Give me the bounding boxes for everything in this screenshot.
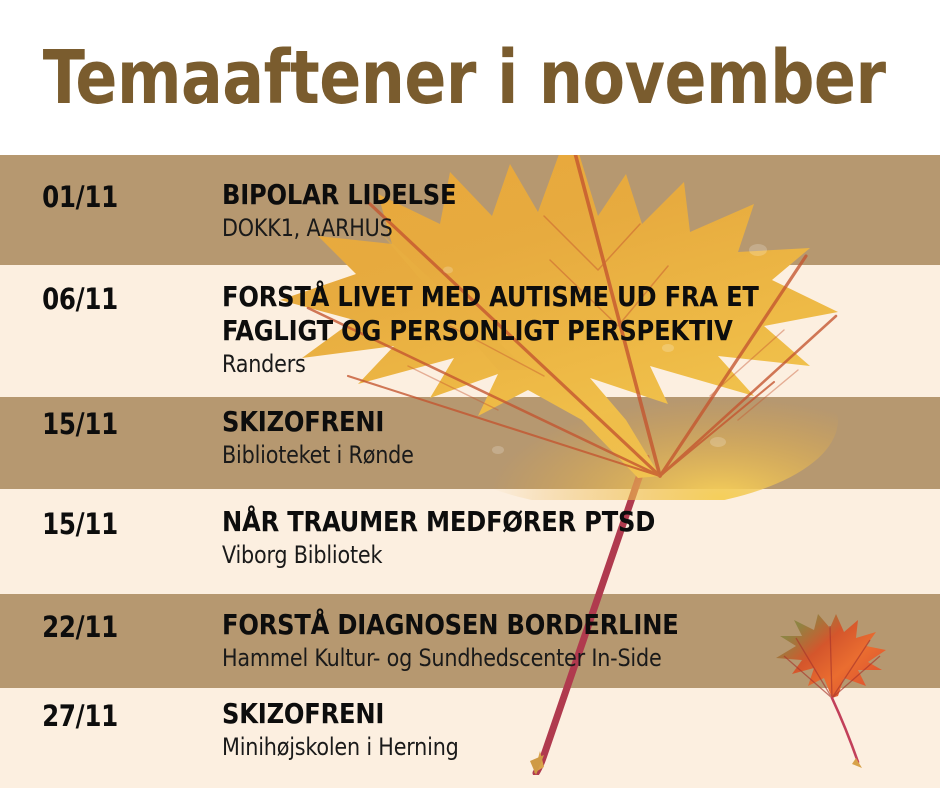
event-venue: Biblioteket i Rønde [222,440,911,470]
event-date: 27/11 [5,697,155,733]
event-date: 15/11 [5,505,155,541]
event-venue: DOKK1, AARHUS [222,213,911,243]
event-date: 01/11 [5,178,155,214]
event-venue: Viborg Bibliotek [222,540,911,570]
table-row[interactable]: 01/11BIPOLAR LIDELSEDOKK1, AARHUS [0,178,940,243]
table-row[interactable]: 15/11NÅR TRAUMER MEDFØRER PTSDViborg Bib… [0,505,940,570]
page-title: Temaaftener i november [0,38,886,118]
poster-header: Temaaftener i november [0,0,940,155]
event-date: 15/11 [5,405,155,441]
event-info: SKIZOFRENIBiblioteket i Rønde [160,405,940,470]
event-info: FORSTÅ LIVET MED AUTISME UD FRA ET FAGLI… [160,280,940,379]
event-info: SKIZOFRENIMinihøjskolen i Herning [160,697,940,762]
event-title: NÅR TRAUMER MEDFØRER PTSD [222,505,911,539]
table-row[interactable]: 15/11SKIZOFRENIBiblioteket i Rønde [0,405,940,470]
event-info: NÅR TRAUMER MEDFØRER PTSDViborg Bibliote… [160,505,940,570]
event-title: BIPOLAR LIDELSE [222,178,911,212]
event-venue: Randers [222,349,911,379]
event-title: FORSTÅ DIAGNOSEN BORDERLINE [222,608,911,642]
table-row[interactable]: 27/11SKIZOFRENIMinihøjskolen i Herning [0,697,940,762]
event-title: SKIZOFRENI [222,405,911,439]
event-title: FORSTÅ LIVET MED AUTISME UD FRA ET FAGLI… [222,280,911,348]
event-info: FORSTÅ DIAGNOSEN BORDERLINEHammel Kultur… [160,608,940,673]
event-info: BIPOLAR LIDELSEDOKK1, AARHUS [160,178,940,243]
event-date: 22/11 [5,608,155,644]
event-venue: Hammel Kultur- og Sundhedscenter In-Side [222,643,911,673]
event-title: SKIZOFRENI [222,697,911,731]
table-row[interactable]: 22/11FORSTÅ DIAGNOSEN BORDERLINEHammel K… [0,608,940,673]
event-date: 06/11 [5,280,155,316]
event-venue: Minihøjskolen i Herning [222,732,911,762]
poster-canvas: Temaaftener i november 01/11BIPOLAR LIDE… [0,0,940,788]
table-row[interactable]: 06/11FORSTÅ LIVET MED AUTISME UD FRA ET … [0,280,940,379]
